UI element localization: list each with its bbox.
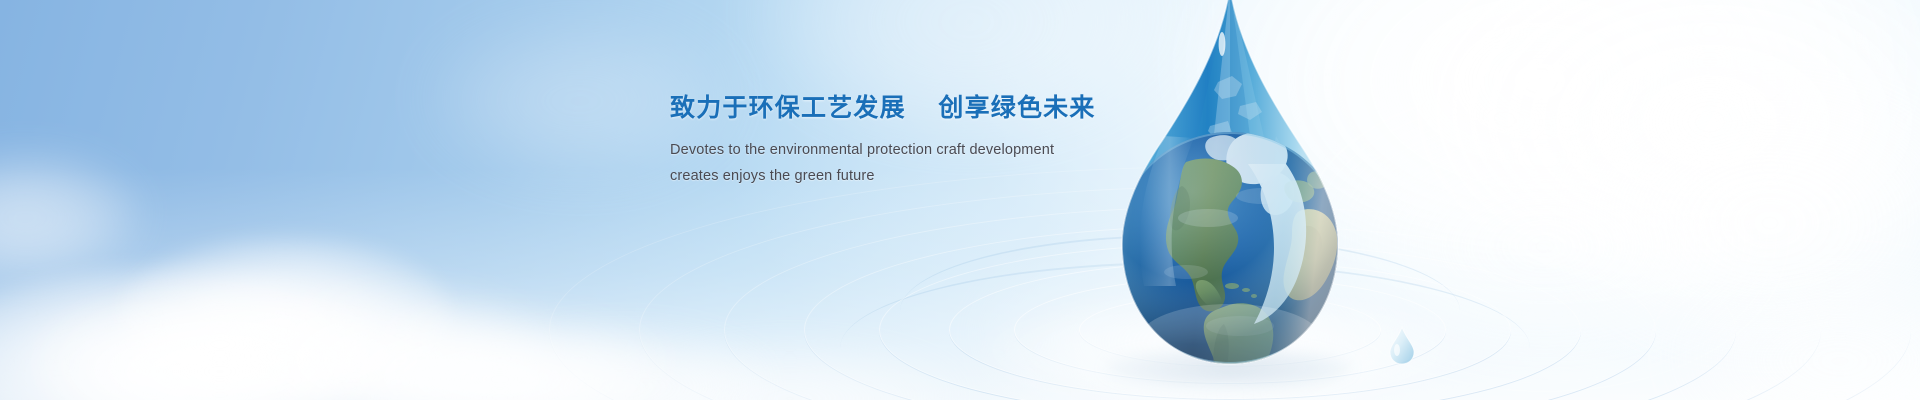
sky-horizon-gradient xyxy=(0,168,1920,400)
banner-subtitle: Devotes to the environmental protection … xyxy=(670,138,1230,190)
eco-hero-banner: 致力于环保工艺发展 创享绿色未来 Devotes to the environm… xyxy=(0,0,1920,400)
banner-headline: 致力于环保工艺发展 创享绿色未来 xyxy=(670,92,1230,125)
banner-subtitle-line-1: Devotes to the environmental protection … xyxy=(670,138,1230,164)
banner-copy: 致力于环保工艺发展 创享绿色未来 Devotes to the environm… xyxy=(670,92,1230,190)
banner-subtitle-line-2: creates enjoys the green future xyxy=(670,164,1230,190)
